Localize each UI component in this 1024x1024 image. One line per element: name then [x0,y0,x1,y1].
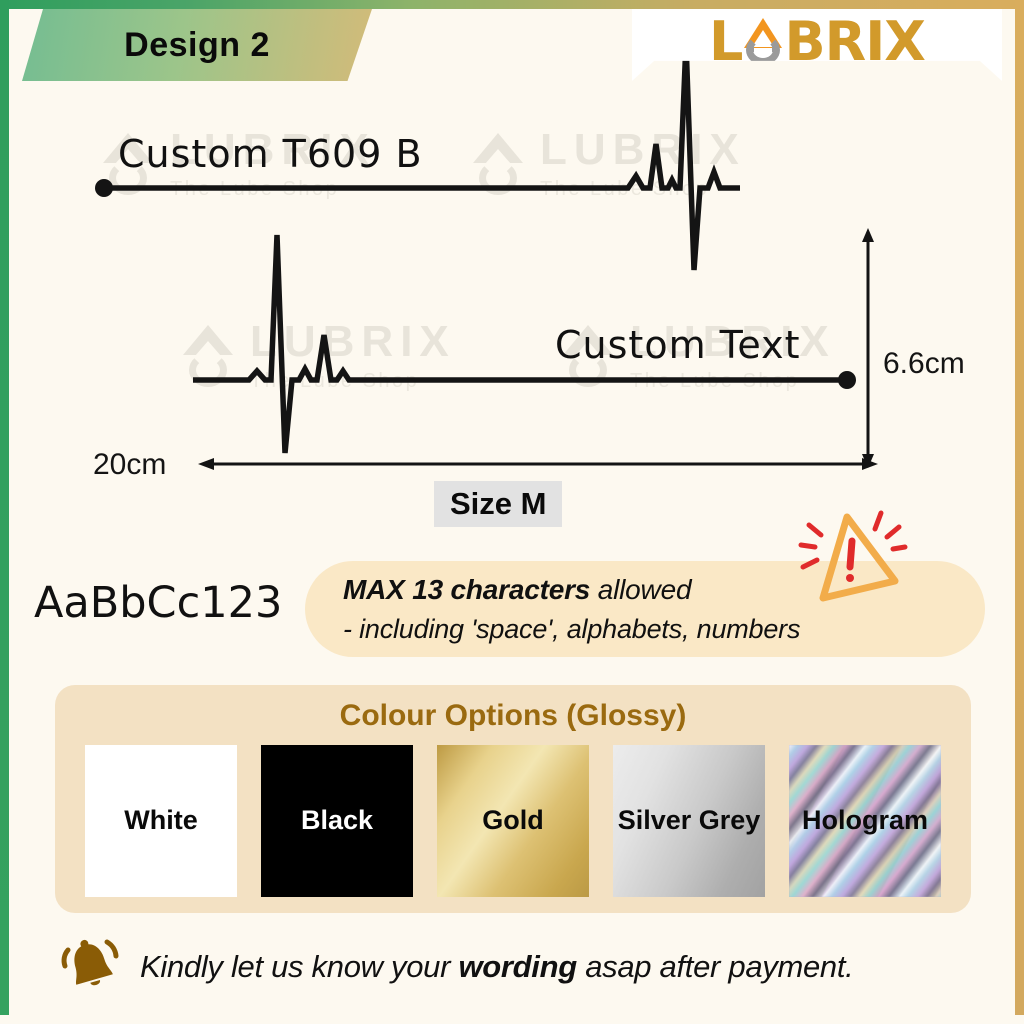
design-top-custom-text: Custom T609 B [118,132,423,176]
bell-icon [60,936,122,998]
swatch-label: White [124,805,198,836]
notice-part1: Kindly let us know your [140,949,458,984]
border-top [0,0,1024,9]
bottom-notice-text: Kindly let us know your wording asap aft… [140,949,854,985]
swatch-label: Hologram [802,805,928,836]
swatch-label: Silver Grey [618,805,761,836]
max-characters-line2: - including 'space', alphabets, numbers [343,614,985,645]
logo-letters-brix: BRIX [784,10,924,73]
design-bottom-custom-text: Custom Text [555,323,801,367]
height-dimension-arrow [855,228,881,468]
colour-swatch-black[interactable]: Black [261,745,413,897]
colour-swatch-hologram[interactable]: Hologram [789,745,941,897]
colour-swatch-list: White Black Gold Silver Grey Hologram [55,745,971,897]
design-label: Design 2 [124,26,270,65]
colour-swatch-white[interactable]: White [85,745,237,897]
border-left [0,0,9,1024]
warning-triangle-icon [795,505,910,610]
product-listing-image: LUBRIX The Lube Shop LUBRIX The Lube Sho… [0,0,1024,1024]
notice-part2: asap after payment. [577,949,854,984]
notice-bold: wording [458,949,576,984]
design-bottom-graphic: Custom Text [185,225,865,465]
design-banner: Design 2 [22,9,372,81]
colour-swatch-gold[interactable]: Gold [437,745,589,897]
max-characters-bold: MAX 13 characters [343,574,590,605]
swatch-label: Gold [482,805,544,836]
size-badge: Size M [434,481,562,527]
width-label: 20cm [93,448,166,482]
oil-drop-gear-icon [740,16,786,66]
colour-options-panel: Colour Options (Glossy) White Black Gold… [55,685,971,913]
height-label: 6.6cm [883,347,965,381]
border-right [1015,0,1024,1024]
colour-swatch-silver-grey[interactable]: Silver Grey [613,745,765,897]
font-sample: AaBbCc123 [34,578,282,628]
lubrix-logo: L BRIX [709,17,925,65]
colour-options-title: Colour Options (Glossy) [55,685,971,733]
width-dimension-arrow [198,452,878,476]
swatch-label: Black [301,805,373,836]
bottom-notice: Kindly let us know your wording asap aft… [60,932,970,1002]
border-bottom [0,1015,1024,1024]
max-characters-rest: allowed [590,574,691,605]
